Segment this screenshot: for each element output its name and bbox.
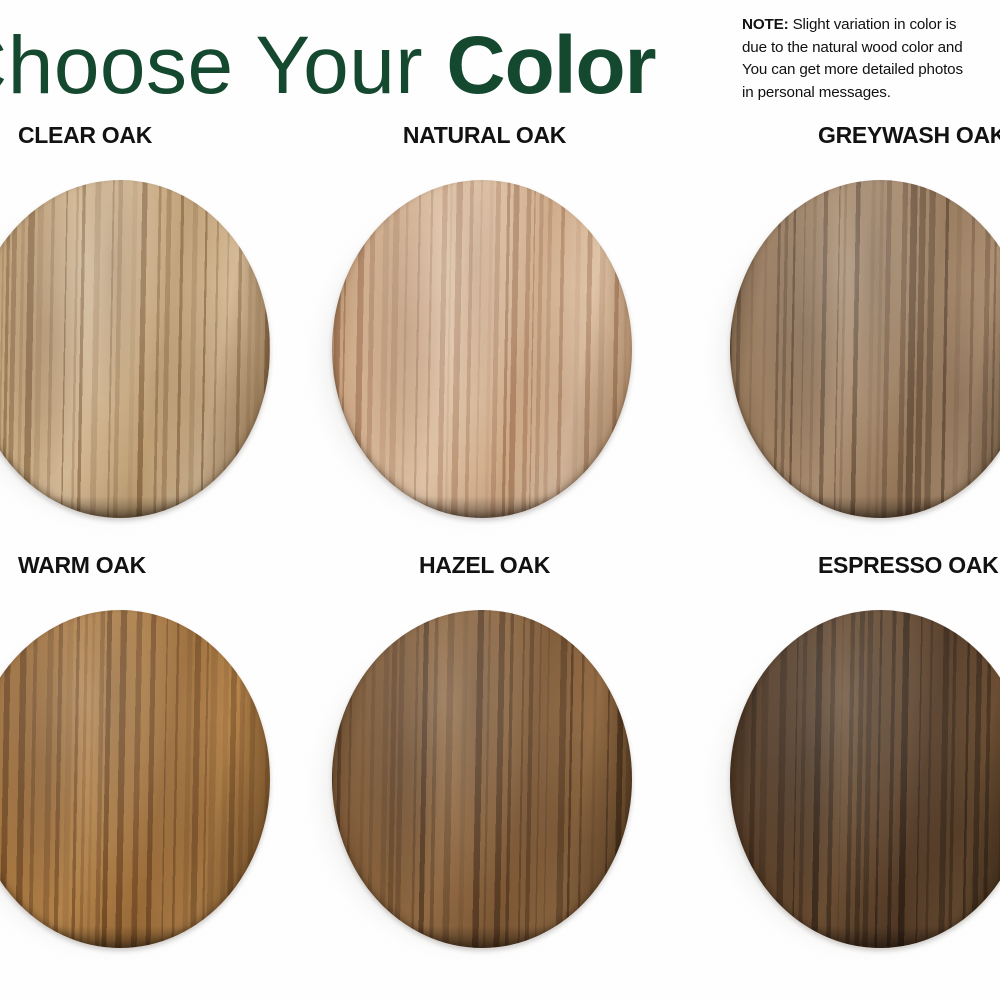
swatch-label: HAZEL OAK <box>318 552 651 579</box>
swatch-cell-espresso-oak[interactable]: ESPRESSO OAK <box>702 552 1000 1000</box>
wood-disc-clear-oak[interactable] <box>0 180 275 525</box>
swatch-label: GREYWASH OAK <box>702 122 1000 149</box>
swatch-cell-hazel-oak[interactable]: HAZEL OAK <box>318 552 651 1000</box>
swatch-label: ESPRESSO OAK <box>702 552 1000 579</box>
wood-disc-espresso-oak[interactable] <box>730 610 1000 955</box>
wood-disc-greywash-oak[interactable] <box>730 180 1000 525</box>
disc-edge-shade <box>332 610 632 948</box>
swatch-label: WARM OAK <box>0 552 307 579</box>
disc-edge-shade <box>332 180 632 518</box>
wood-disc-natural-oak[interactable] <box>332 180 637 525</box>
disc-face <box>730 180 1000 518</box>
disc-face <box>0 610 270 948</box>
swatch-grid: CLEAR OAK NATURAL OAK <box>0 0 1000 1000</box>
swatch-cell-natural-oak[interactable]: NATURAL OAK <box>318 122 651 592</box>
swatch-label: CLEAR OAK <box>0 122 307 149</box>
disc-face <box>332 180 632 518</box>
disc-face <box>332 610 632 948</box>
disc-face <box>730 610 1000 948</box>
swatch-cell-greywash-oak[interactable]: GREYWASH OAK <box>702 122 1000 592</box>
swatch-label: NATURAL OAK <box>318 122 651 149</box>
disc-face <box>0 180 270 518</box>
swatch-cell-warm-oak[interactable]: WARM OAK <box>0 552 307 1000</box>
wood-disc-warm-oak[interactable] <box>0 610 275 955</box>
swatch-cell-clear-oak[interactable]: CLEAR OAK <box>0 122 307 592</box>
color-chooser-page: Choose Your Color NOTE: Slight variation… <box>0 0 1000 1000</box>
wood-disc-hazel-oak[interactable] <box>332 610 637 955</box>
